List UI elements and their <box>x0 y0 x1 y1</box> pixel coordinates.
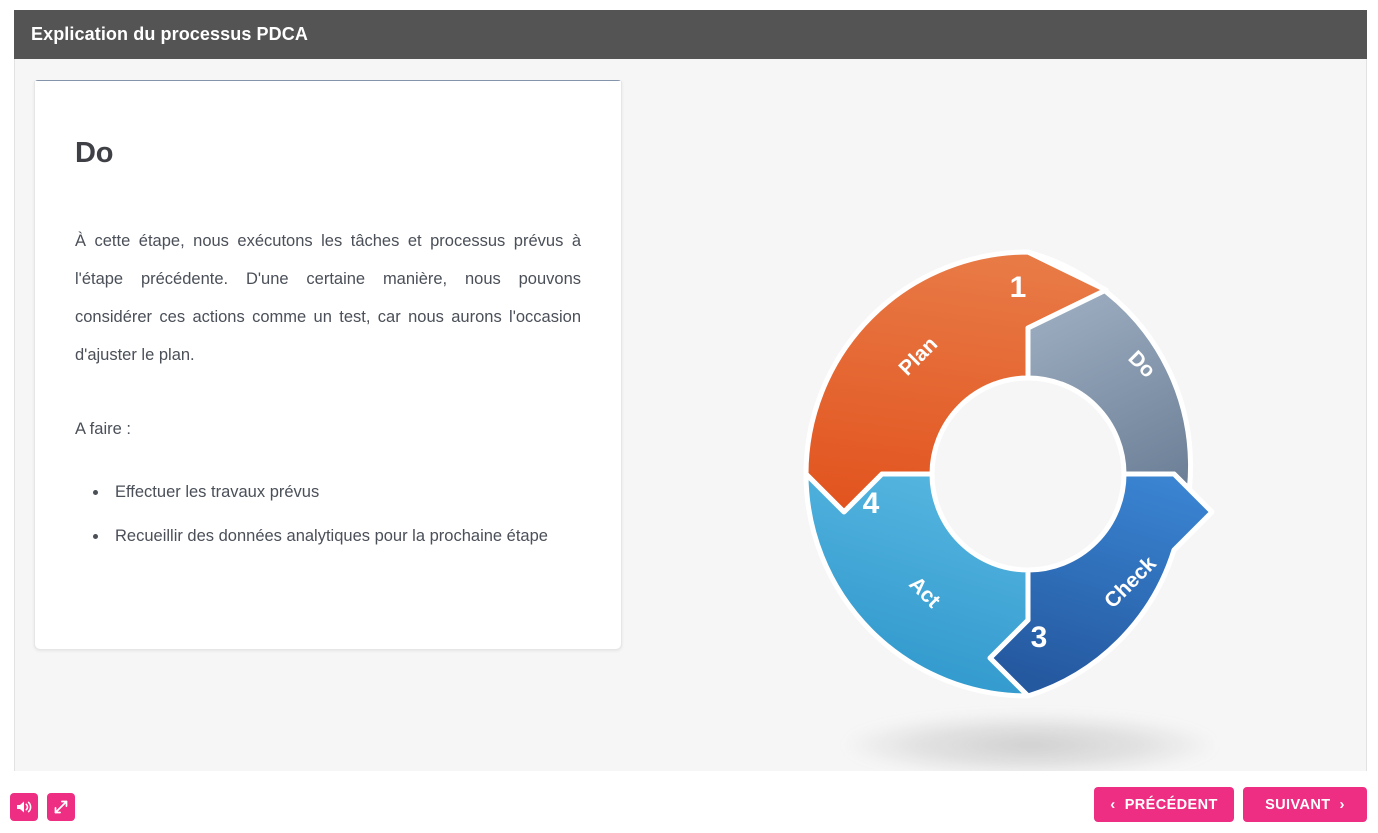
pdca-donut-diagram: Plan 1 Do 2 Check 3 Act <box>715 69 1355 769</box>
segment-number-act: 4 <box>863 487 880 520</box>
slide-content-panel: Do À cette étape, nous exécutons les tâc… <box>14 59 1367 772</box>
page-title: Explication du processus PDCA <box>14 24 308 45</box>
volume-button[interactable] <box>10 793 38 821</box>
slide-title-bar: Explication du processus PDCA <box>14 10 1367 59</box>
segment-number-check: 3 <box>1031 621 1048 654</box>
slide-footer: ‹ PRÉCÉDENT SUIVANT › <box>0 771 1378 833</box>
fullscreen-icon <box>53 799 69 815</box>
card-todo-label: A faire : <box>75 410 581 448</box>
list-item: Effectuer les travaux prévus <box>109 474 581 510</box>
list-item: Recueillir des données analytiques pour … <box>109 518 581 554</box>
chevron-right-icon: › <box>1339 797 1344 812</box>
slide-stage: Explication du processus PDCA Do À cette… <box>0 0 1378 833</box>
next-button[interactable]: SUIVANT › <box>1243 787 1367 822</box>
previous-button-label: PRÉCÉDENT <box>1125 797 1218 813</box>
donut-segment-act[interactable]: Act 4 <box>806 474 1028 696</box>
segment-number-plan: 1 <box>1010 271 1027 304</box>
previous-button[interactable]: ‹ PRÉCÉDENT <box>1094 787 1234 822</box>
text-card: Do À cette étape, nous exécutons les tâc… <box>34 81 622 650</box>
speaker-icon <box>16 800 32 814</box>
card-heading: Do <box>75 137 581 170</box>
card-bullet-list: Effectuer les travaux prévus Recueillir … <box>75 474 581 554</box>
pdca-donut-svg: Plan 1 Do 2 Check 3 Act <box>715 69 1355 769</box>
next-button-label: SUIVANT <box>1265 797 1330 813</box>
chevron-left-icon: ‹ <box>1110 797 1115 812</box>
card-paragraph: À cette étape, nous exécutons les tâches… <box>75 222 581 374</box>
fullscreen-button[interactable] <box>47 793 75 821</box>
